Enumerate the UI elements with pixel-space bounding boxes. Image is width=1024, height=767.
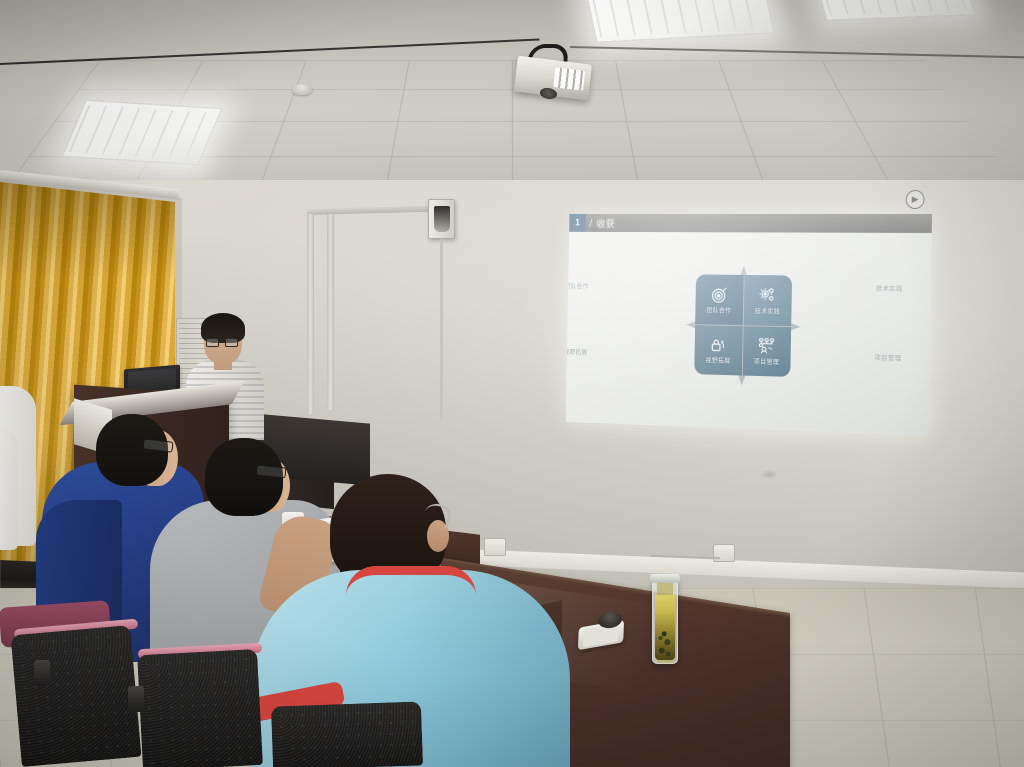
wall-conduit xyxy=(307,214,314,414)
projected-slide-area: 1 / 收获 团队合作 xyxy=(566,214,932,436)
slide-number-badge: 1 xyxy=(569,214,586,232)
quadrant-tile-label: 技术实践 xyxy=(755,309,780,316)
tea-bottle xyxy=(652,578,678,664)
chair-hinge xyxy=(34,660,50,686)
lock-icon xyxy=(709,336,728,356)
quadrant-tile-top-left: 团队合作 xyxy=(695,275,743,325)
wall-socket xyxy=(713,544,735,562)
speaker-wire xyxy=(440,239,443,419)
quadrant-tile-label: 团队合作 xyxy=(706,308,731,315)
quadrant-tile-label: 视野拓展 xyxy=(705,359,730,366)
slide-separator: / xyxy=(589,216,592,229)
wall-socket xyxy=(484,538,506,556)
target-icon xyxy=(710,285,729,305)
tea-leaves xyxy=(657,617,673,659)
quadrant-tiles: 团队合作 技术实践 xyxy=(694,275,792,378)
diagram-side-label: 技术实践 xyxy=(876,283,903,293)
gears-icon xyxy=(758,286,777,306)
attendee-cyan-collar xyxy=(346,566,476,596)
quadrant-tile-bottom-left: 视野拓展 xyxy=(694,325,742,376)
chair-hinge xyxy=(128,686,144,712)
attendee-edge-arm xyxy=(0,430,18,550)
presentation-slide: 1 / 收获 团队合作 xyxy=(566,214,932,436)
quadrant-tile-bottom-right: 项目管理 xyxy=(742,326,791,377)
lecture-chair xyxy=(271,701,423,767)
wall-speaker xyxy=(428,199,455,239)
ceiling-light-panel xyxy=(62,100,223,166)
diagram-side-label: 团队合作 xyxy=(566,281,589,291)
slide-header-bar: 1 / 收获 xyxy=(569,214,932,233)
lecture-chair xyxy=(10,625,141,767)
quadrant-diagram: 团队合作 技术实践 xyxy=(624,257,867,397)
diagram-side-label: 项目管理 xyxy=(875,352,902,363)
ceiling-shading xyxy=(0,0,1024,196)
slide-title: 收获 xyxy=(596,216,615,230)
network-icon xyxy=(757,337,776,357)
photo-scene: 1 / 收获 团队合作 xyxy=(0,0,1024,767)
quadrant-tile-label: 项目管理 xyxy=(754,360,779,367)
ceiling xyxy=(0,0,1024,196)
tea-bottle-lid xyxy=(650,574,680,583)
quadrant-tile-top-right: 技术实践 xyxy=(743,275,792,326)
wall-conduit xyxy=(327,214,334,410)
wall-mark xyxy=(760,470,778,479)
presenter-glasses-icon xyxy=(206,338,238,347)
smoke-detector-icon xyxy=(292,84,312,95)
diagram-side-label: 视野拓展 xyxy=(566,346,588,356)
lecture-chair xyxy=(137,649,263,767)
